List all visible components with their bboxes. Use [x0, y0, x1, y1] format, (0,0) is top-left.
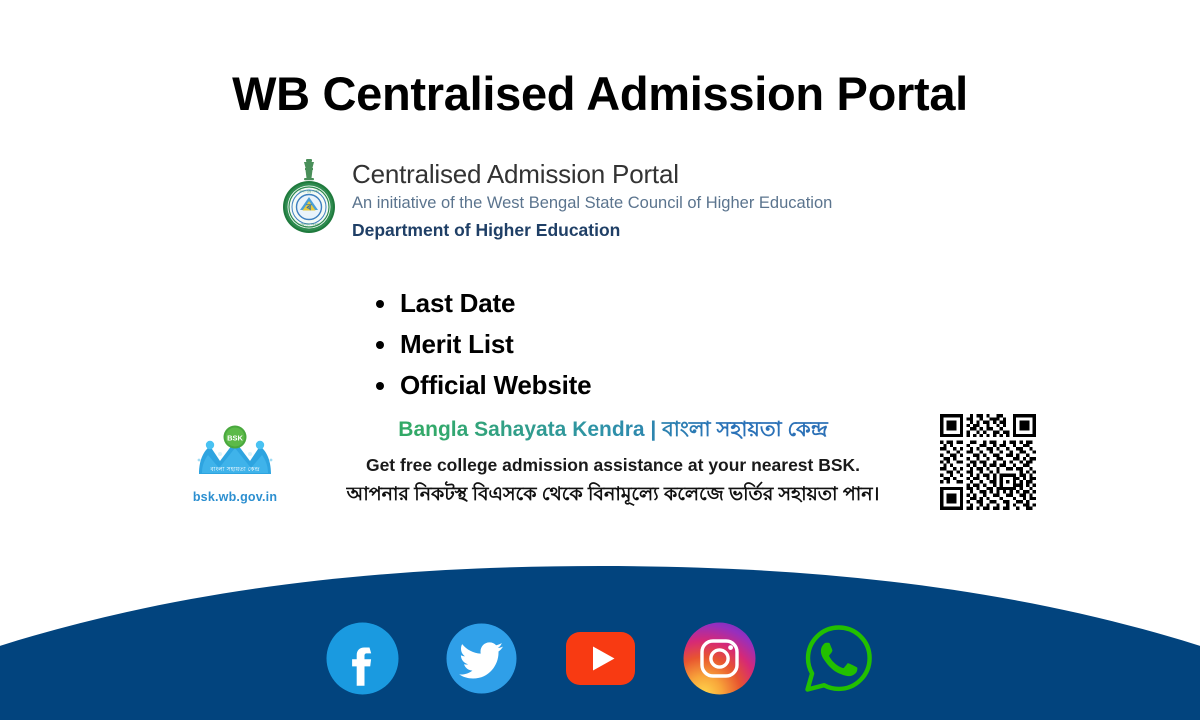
- bsk-line-english: Get free college admission assistance at…: [296, 455, 930, 476]
- list-item-merit-list[interactable]: Merit List: [368, 324, 591, 365]
- instagram-icon[interactable]: [682, 621, 757, 696]
- facebook-icon[interactable]: [325, 621, 400, 696]
- bsk-line-bengali: আপনার নিকটস্থ বিএসকে থেকে বিনামূল্যে কলে…: [296, 483, 930, 507]
- bsk-banner: BSK বাংলা সহায়তা কেন্দ্র bsk.wb.gov.in …: [180, 408, 1040, 516]
- cap-logo-department: Department of Higher Education: [352, 220, 832, 242]
- bullet-icon: [376, 300, 384, 308]
- list-item-last-date[interactable]: Last Date: [368, 283, 591, 324]
- cap-logo-subtitle: An initiative of the West Bengal State C…: [352, 193, 832, 214]
- bsk-banner-text: Bangla Sahayata Kendra | বাংলা সহায়তা ক…: [290, 417, 936, 507]
- svg-text:পশ্চিমবঙ্গ সরকার: পশ্চিমবঙ্গ সরকার: [299, 223, 320, 227]
- svg-text:বাংলা সহায়তা কেন্দ্র: বাংলা সহায়তা কেন্দ্র: [209, 466, 259, 473]
- list-item-label: Official Website: [400, 370, 591, 400]
- list-item-label: Merit List: [400, 329, 514, 359]
- bsk-heading: Bangla Sahayata Kendra | বাংলা সহায়তা ক…: [296, 417, 930, 442]
- bsk-crown-icon: BSK বাংলা সহায়তা কেন্দ্র: [189, 424, 281, 486]
- youtube-icon[interactable]: [563, 621, 638, 696]
- cap-logo-lockup: ৰ রাজ্য উচ্চ শিক্ষা পশ্চিমবঙ্গ সরকার Cen…: [278, 155, 832, 242]
- page-title: WB Centralised Admission Portal: [0, 68, 1200, 120]
- cap-logo-title: Centralised Admission Portal: [352, 161, 832, 188]
- bullet-icon: [376, 341, 384, 349]
- twitter-icon[interactable]: [444, 621, 519, 696]
- bsk-logo-block: BSK বাংলা সহায়তা কেন্দ্র bsk.wb.gov.in: [180, 420, 290, 504]
- west-bengal-state-emblem-icon: ৰ রাজ্য উচ্চ শিক্ষা পশ্চিমবঙ্গ সরকার: [278, 155, 340, 239]
- bsk-qr-code-icon[interactable]: [936, 414, 1040, 510]
- poster-canvas: WB Centralised Admission Portal: [0, 0, 1200, 720]
- svg-text:রাজ্য উচ্চ শিক্ষা: রাজ্য উচ্চ শিক্ষা: [298, 190, 318, 194]
- link-list: Last Date Merit List Official Website: [368, 283, 591, 406]
- social-links-row: [0, 621, 1200, 696]
- list-item-label: Last Date: [400, 288, 515, 318]
- svg-text:ৰ: ৰ: [305, 203, 312, 213]
- cap-logo-text: Centralised Admission Portal An initiati…: [352, 155, 832, 242]
- bullet-icon: [376, 382, 384, 390]
- whatsapp-icon[interactable]: [801, 621, 876, 696]
- svg-text:BSK: BSK: [227, 434, 243, 443]
- bsk-url[interactable]: bsk.wb.gov.in: [180, 490, 290, 504]
- list-item-official-website[interactable]: Official Website: [368, 365, 591, 406]
